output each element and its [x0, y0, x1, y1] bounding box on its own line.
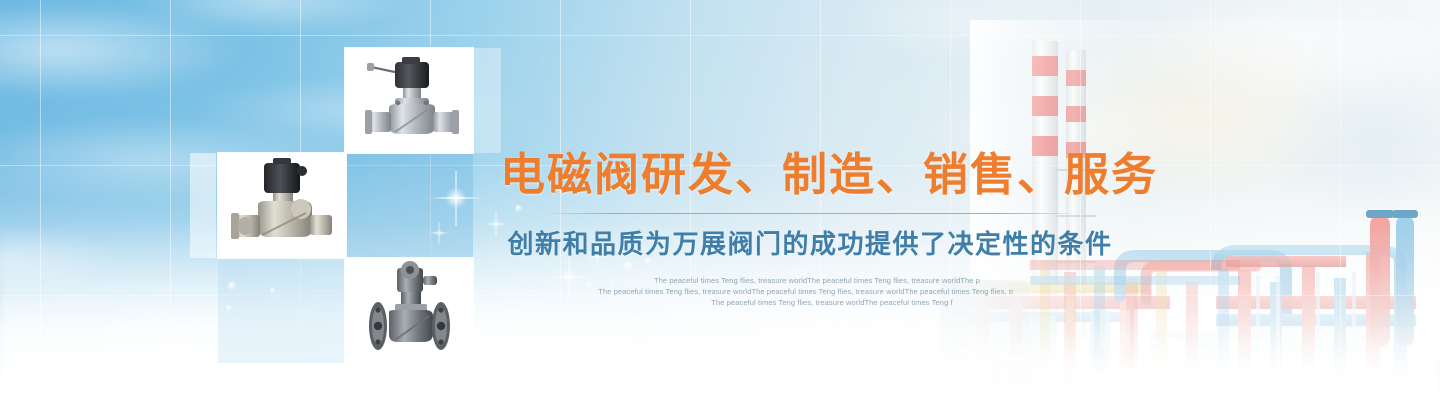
product-tile-3[interactable]: [345, 258, 473, 363]
hero-blurb-line-2: The peaceful times Teng flies, treasure …: [492, 286, 1120, 297]
solenoid-valve-flanged-icon: [345, 258, 473, 363]
hero-banner: 电磁阀研发、制造、销售、服务 创新和品质为万展阀门的成功提供了决定性的条件 Th…: [0, 0, 1440, 420]
headline-divider: [553, 213, 1068, 214]
solenoid-valve-brass-body-icon: [218, 153, 346, 258]
accent-panel-left: [190, 153, 216, 258]
hero-blurb: The peaceful times Teng flies, treasure …: [500, 275, 1120, 308]
hero-subheadline: 创新和品质为万展阀门的成功提供了决定性的条件: [500, 224, 1120, 261]
hero-blurb-line-3: The peaceful times Teng flies, treasure …: [544, 297, 1120, 308]
accent-panel-bottom: [218, 258, 345, 363]
accent-panel-top: [473, 48, 501, 153]
hero-blurb-line-1: The peaceful times Teng flies, treasure …: [514, 275, 1120, 286]
product-tile-2[interactable]: [218, 153, 346, 258]
hero-copy: 电磁阀研发、制造、销售、服务 创新和品质为万展阀门的成功提供了决定性的条件 Th…: [500, 148, 1120, 308]
product-tile-1[interactable]: [345, 48, 473, 153]
accent-panel-middle: [346, 153, 473, 258]
product-tile-grid: [0, 0, 500, 420]
hero-headline: 电磁阀研发、制造、销售、服务: [500, 148, 1120, 201]
solenoid-valve-threaded-inline-icon: [345, 48, 473, 153]
